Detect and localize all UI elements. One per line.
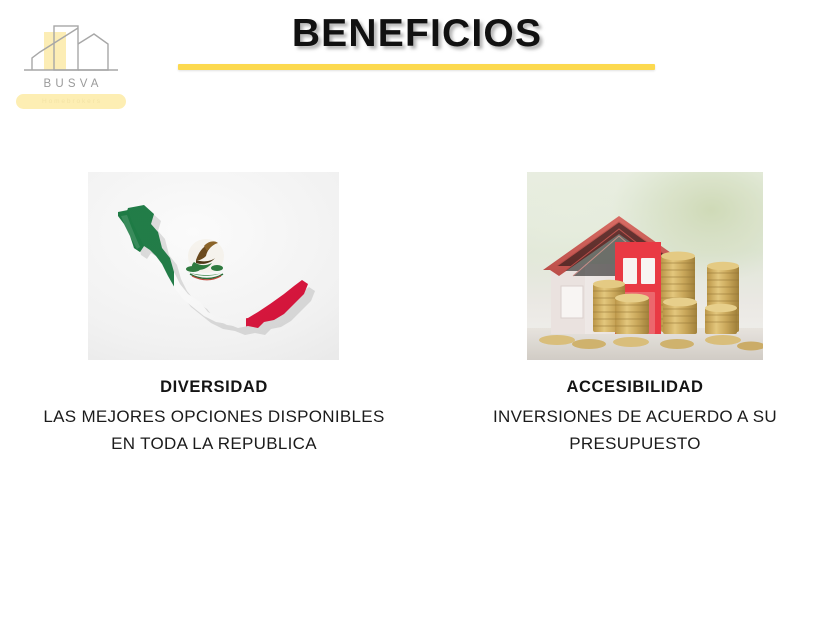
benefit-description-line-1: INVERSIONES DE ACUERDO A SU: [453, 404, 817, 431]
benefit-description: INVERSIONES DE ACUERDO A SU PRESUPUESTO: [445, 404, 825, 458]
logo-tagline-badge: Homebrokers: [16, 94, 126, 109]
house-with-coin-stacks-image: [527, 172, 763, 360]
benefit-description: LAS MEJORES OPCIONES DISPONIBLES EN TODA…: [14, 404, 414, 458]
slide-canvas: BUSVA Homebrokers BENEFICIOS: [0, 0, 840, 630]
building-outline-icon: [16, 22, 126, 80]
busva-logo[interactable]: BUSVA Homebrokers: [16, 22, 126, 110]
page-title: BENEFICIOS: [170, 14, 664, 55]
logo-tagline: Homebrokers: [40, 98, 102, 105]
logo-wordmark: BUSVA: [16, 78, 126, 90]
benefit-card-diversidad: DIVERSIDAD LAS MEJORES OPCIONES DISPONIB…: [14, 172, 414, 458]
benefit-heading: ACCESIBILIDAD: [445, 378, 825, 397]
mexico-map-flag-image: [88, 172, 339, 360]
benefit-card-accesibilidad: ACCESIBILIDAD INVERSIONES DE ACUERDO A S…: [445, 172, 825, 458]
benefit-heading: DIVERSIDAD: [14, 378, 414, 397]
benefit-description-line-1: LAS MEJORES OPCIONES DISPONIBLES: [14, 404, 414, 431]
benefit-description-line-2: EN TODA LA REPUBLICA: [14, 431, 414, 458]
benefit-description-line-2: PRESUPUESTO: [453, 431, 817, 458]
title-underline-rule: [178, 64, 655, 70]
